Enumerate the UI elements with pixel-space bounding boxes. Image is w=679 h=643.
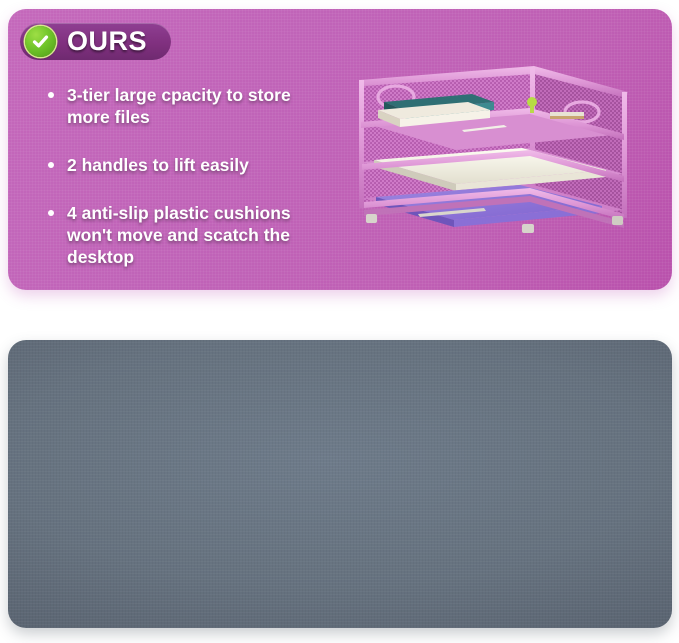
ours-badge-label: OURS — [67, 28, 147, 55]
list-item: 4 anti-slip plastic cushions won't move … — [46, 202, 336, 268]
others-panel-inner: OTHERS Only 2 tiers No handles,hard to u… — [8, 340, 672, 628]
others-panel: OTHERS Only 2 tiers No handles,hard to u… — [8, 340, 672, 628]
comparison-infographic: OURS 3-tier large cpacity to store more … — [0, 0, 679, 643]
ours-product-image — [344, 64, 644, 264]
ours-panel-inner: OURS 3-tier large cpacity to store more … — [8, 9, 672, 290]
list-item: 3-tier large cpacity to store more files — [46, 84, 336, 128]
ours-panel: OURS 3-tier large cpacity to store more … — [8, 9, 672, 290]
check-circle-icon — [25, 26, 56, 57]
list-item: 2 handles to lift easily — [46, 154, 336, 176]
ours-bullet-list: 3-tier large cpacity to store more files… — [46, 84, 336, 290]
ours-badge: OURS — [20, 23, 171, 60]
